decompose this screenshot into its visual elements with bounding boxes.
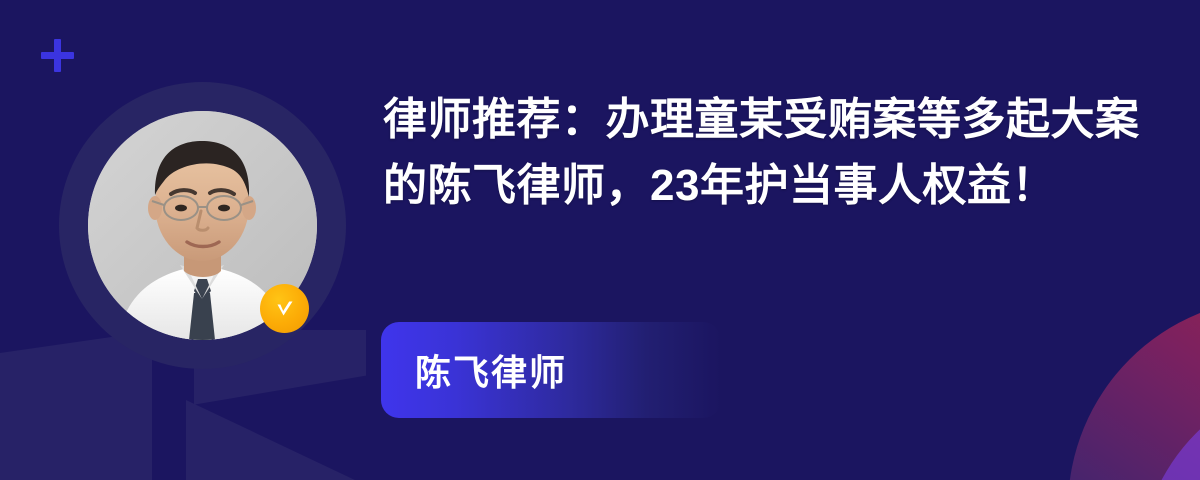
promo-banner: 律师推荐：办理童某受贿案等多起大案的陈飞律师，23年护当事人权益！ 陈飞律师 xyxy=(0,0,1200,480)
decorative-triangle xyxy=(186,400,376,480)
lawyer-profile-button[interactable]: 陈飞律师 xyxy=(381,322,721,418)
page-title: 律师推荐：办理童某受贿案等多起大案的陈飞律师，23年护当事人权益！ xyxy=(383,87,1173,219)
decorative-gradient-circle-outer xyxy=(1068,298,1200,480)
decorative-gradient-circle-inner xyxy=(1140,378,1200,480)
verified-badge-icon xyxy=(260,284,309,333)
avatar xyxy=(59,82,346,369)
plus-icon xyxy=(41,39,74,72)
